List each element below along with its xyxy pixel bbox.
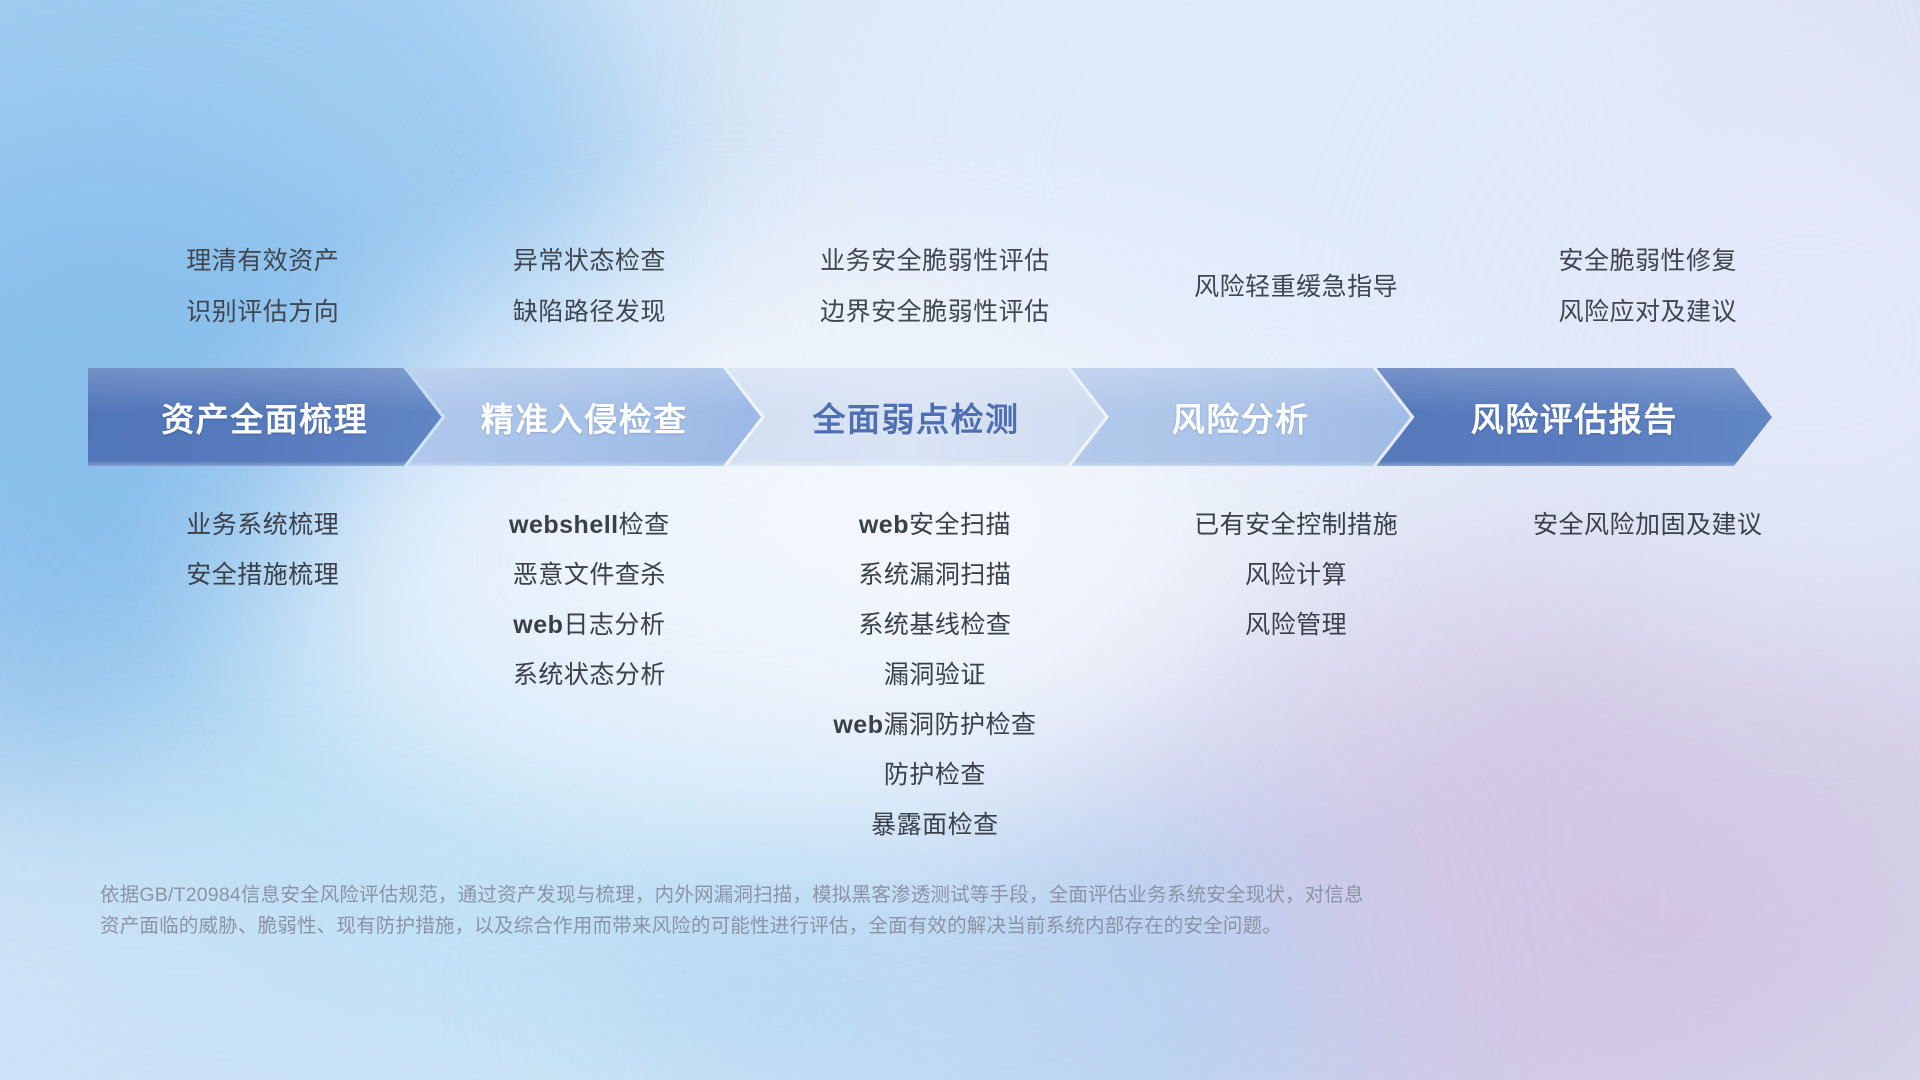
list-item-text: 安全扫描 bbox=[909, 511, 1011, 539]
list-item: 系统状态分析 bbox=[430, 650, 750, 700]
top-note: 缺陷路径发现 bbox=[430, 287, 750, 338]
chevron-stage-3[interactable]: 全面弱点检测 bbox=[727, 368, 1105, 466]
bottom-list-stage-2: webshell检查 恶意文件查杀 web日志分析 系统状态分析 bbox=[430, 500, 750, 700]
top-notes-stage-1: 理清有效资产 识别评估方向 bbox=[96, 236, 430, 338]
top-notes-stage-5: 安全脆弱性修复 风险应对及建议 bbox=[1471, 236, 1824, 338]
list-item: 风险管理 bbox=[1121, 600, 1472, 650]
list-item-emphasis: web bbox=[859, 511, 909, 539]
list-item-emphasis: webshell bbox=[509, 511, 619, 539]
chevron-stage-3-label: 全面弱点检测 bbox=[813, 393, 1020, 441]
top-note: 识别评估方向 bbox=[96, 287, 430, 338]
footer-line-2: 资产面临的威胁、脆弱性、现有防护措施，以及综合作用而带来风险的可能性进行评估，全… bbox=[100, 911, 1620, 942]
top-notes-row: 理清有效资产 识别评估方向 异常状态检查 缺陷路径发现 业务安全脆弱性评估 边界… bbox=[0, 236, 1920, 338]
chevron-stage-2[interactable]: 精准入侵检查 bbox=[408, 368, 762, 466]
chevron-stage-5[interactable]: 风险评估报告 bbox=[1377, 368, 1773, 466]
diagram-content: 理清有效资产 识别评估方向 异常状态检查 缺陷路径发现 业务安全脆弱性评估 边界… bbox=[0, 0, 1920, 1080]
list-item: webshell检查 bbox=[430, 500, 750, 550]
list-item: 防护检查 bbox=[749, 750, 1121, 800]
bottom-list-stage-1: 业务系统梳理 安全措施梳理 bbox=[96, 500, 430, 600]
footer-line-1: 依据GB/T20984信息安全风险评估规范，通过资产发现与梳理，内外网漏洞扫描，… bbox=[100, 880, 1620, 911]
top-notes-stage-2: 异常状态检查 缺陷路径发现 bbox=[430, 236, 750, 338]
list-item: 业务系统梳理 bbox=[96, 500, 430, 550]
list-item: 安全风险加固及建议 bbox=[1471, 500, 1824, 550]
top-note: 风险应对及建议 bbox=[1471, 287, 1824, 338]
top-note: 风险轻重缓急指导 bbox=[1121, 262, 1472, 313]
list-item: 暴露面检查 bbox=[749, 800, 1121, 850]
top-notes-stage-3: 业务安全脆弱性评估 边界安全脆弱性评估 bbox=[749, 236, 1121, 338]
list-item: 安全措施梳理 bbox=[96, 550, 430, 600]
top-note: 边界安全脆弱性评估 bbox=[749, 287, 1121, 338]
bottom-lists-row: 业务系统梳理 安全措施梳理 webshell检查 恶意文件查杀 web日志分析 … bbox=[0, 500, 1920, 850]
bottom-list-stage-5: 安全风险加固及建议 bbox=[1471, 500, 1824, 550]
slide-canvas: 理清有效资产 识别评估方向 异常状态检查 缺陷路径发现 业务安全脆弱性评估 边界… bbox=[0, 0, 1920, 1080]
list-item-text: 日志分析 bbox=[563, 611, 665, 639]
footer-description: 依据GB/T20984信息安全风险评估规范，通过资产发现与梳理，内外网漏洞扫描，… bbox=[100, 880, 1620, 942]
top-note: 理清有效资产 bbox=[96, 236, 430, 287]
list-item-text: 检查 bbox=[619, 511, 670, 539]
list-item: web安全扫描 bbox=[749, 500, 1121, 550]
list-item: 恶意文件查杀 bbox=[430, 550, 750, 600]
chevron-stage-2-label: 精准入侵检查 bbox=[481, 393, 688, 441]
list-item: 漏洞验证 bbox=[749, 650, 1121, 700]
list-item-text: 漏洞防护检查 bbox=[883, 711, 1036, 739]
list-item: 系统漏洞扫描 bbox=[749, 550, 1121, 600]
list-item-emphasis: web bbox=[513, 611, 563, 639]
bottom-list-stage-4: 已有安全控制措施 风险计算 风险管理 bbox=[1121, 500, 1472, 650]
list-item: 系统基线检查 bbox=[749, 600, 1121, 650]
list-item-emphasis: web bbox=[833, 711, 883, 739]
top-note: 业务安全脆弱性评估 bbox=[749, 236, 1121, 287]
list-item: web漏洞防护检查 bbox=[749, 700, 1121, 750]
top-notes-stage-4: 风险轻重缓急指导 bbox=[1121, 236, 1472, 287]
top-note: 异常状态检查 bbox=[430, 236, 750, 287]
process-chevron-band: 资产全面梳理 精准入侵检查 全面弱点检测 风险分析 风险评估报告 bbox=[88, 368, 1838, 466]
top-note: 安全脆弱性修复 bbox=[1471, 236, 1824, 287]
list-item: web日志分析 bbox=[430, 600, 750, 650]
chevron-stage-4[interactable]: 风险分析 bbox=[1071, 368, 1411, 466]
list-item: 已有安全控制措施 bbox=[1121, 500, 1472, 550]
bottom-list-stage-3: web安全扫描 系统漏洞扫描 系统基线检查 漏洞验证 web漏洞防护检查 防护检… bbox=[749, 500, 1121, 850]
chevron-stage-1[interactable]: 资产全面梳理 bbox=[88, 368, 442, 466]
chevron-stage-1-label: 资产全面梳理 bbox=[161, 393, 368, 441]
list-item: 风险计算 bbox=[1121, 550, 1472, 600]
chevron-stage-4-label: 风险分析 bbox=[1172, 393, 1310, 441]
chevron-stage-5-label: 风险评估报告 bbox=[1471, 393, 1678, 441]
